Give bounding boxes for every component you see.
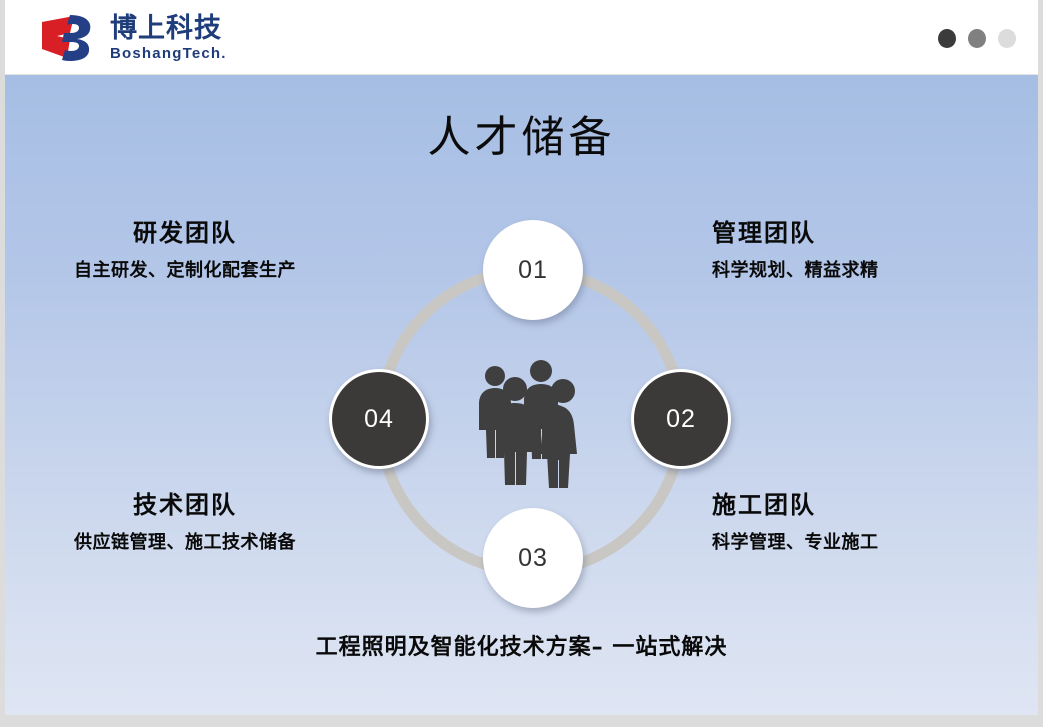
cycle-diagram: 01 02 03 04 (323, 213, 743, 633)
slide-body: 人才储备 研发团队 自主研发、定制化配套生产 管理团队 科学规划、精益求精 技术… (5, 75, 1038, 715)
label-technical-team: 技术团队 供应链管理、施工技术储备 (20, 492, 350, 553)
dot-dark[interactable] (938, 29, 956, 48)
cycle-node-01[interactable]: 01 (483, 220, 583, 320)
label-title: 管理团队 (712, 220, 1038, 248)
label-subtitle: 科学规划、精益求精 (712, 260, 1038, 282)
slide-header: 博上科技 BoshangTech. (5, 0, 1038, 75)
node-number: 04 (364, 405, 394, 434)
logo-english-name: BoshangTech. (110, 46, 227, 61)
label-subtitle: 自主研发、定制化配套生产 (20, 260, 350, 282)
label-title: 技术团队 (20, 492, 350, 520)
label-subtitle: 科学管理、专业施工 (712, 532, 1038, 554)
node-number: 01 (518, 256, 548, 285)
cycle-node-03[interactable]: 03 (483, 508, 583, 608)
cycle-node-02[interactable]: 02 (631, 369, 731, 469)
group-of-people-icon (463, 353, 603, 493)
dot-mid[interactable] (968, 29, 986, 48)
boshang-b-mark-icon (40, 13, 102, 63)
logo-chinese-name: 博上科技 (110, 15, 227, 43)
label-rd-team: 研发团队 自主研发、定制化配套生产 (20, 220, 350, 281)
label-title: 施工团队 (712, 492, 1038, 520)
page-indicator-dots[interactable] (938, 29, 1016, 48)
slide-canvas: 博上科技 BoshangTech. 人才储备 研发团队 自主研发、定制化配套生产… (0, 0, 1043, 727)
node-number: 03 (518, 544, 548, 573)
company-logo[interactable]: 博上科技 BoshangTech. (40, 10, 227, 66)
slide-footnote: 工程照明及智能化技术方案– 一站式解决 (5, 629, 1038, 661)
label-subtitle: 供应链管理、施工技术储备 (20, 532, 350, 554)
label-construction-team: 施工团队 科学管理、专业施工 (712, 492, 1038, 553)
cycle-node-04[interactable]: 04 (329, 369, 429, 469)
page-title: 人才储备 (5, 103, 1038, 165)
node-number: 02 (666, 405, 696, 434)
label-title: 研发团队 (20, 220, 350, 248)
dot-light[interactable] (998, 29, 1016, 48)
label-management-team: 管理团队 科学规划、精益求精 (712, 220, 1038, 281)
